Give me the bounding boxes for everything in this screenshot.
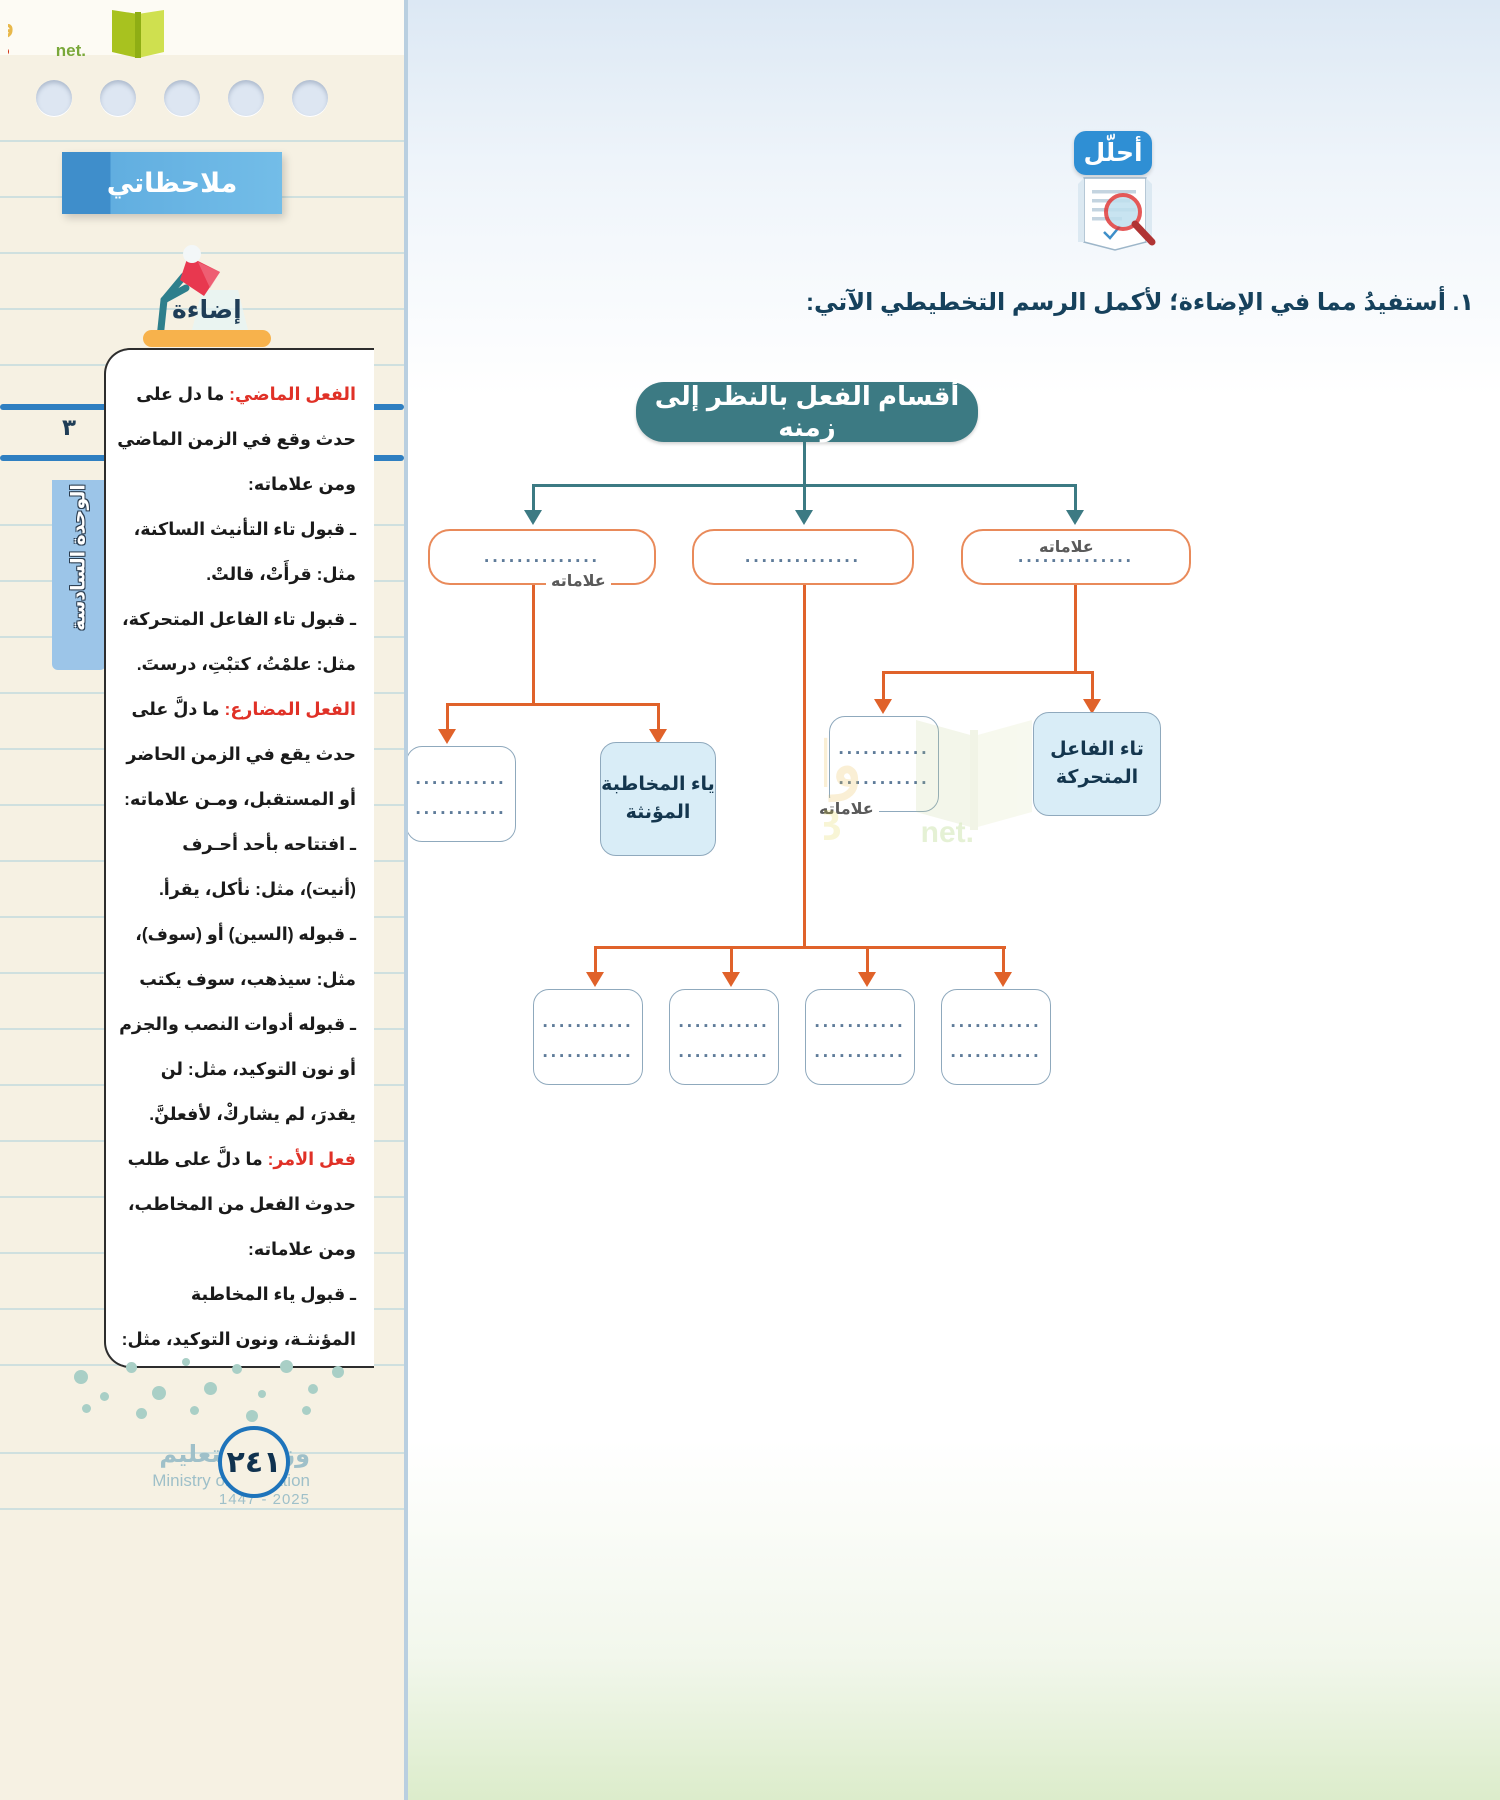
note-line: ـ افتتاحه بأحد أحـرف xyxy=(124,822,356,867)
note-line-text: مثل: قرأَتْ، قالتْ. xyxy=(206,564,356,584)
punch-hole xyxy=(100,80,136,116)
ministry-year: 2025 - 1447 xyxy=(70,1491,310,1510)
arrow-icon xyxy=(874,699,892,714)
connector xyxy=(594,946,597,974)
arrow-icon xyxy=(524,510,542,525)
level2-left-filled-node: ياء المخاطبة المؤنثة xyxy=(600,742,716,856)
level2-center-node-4[interactable]: ...................... xyxy=(533,989,643,1085)
note-line-heading: الفعل الماضي: xyxy=(229,384,356,404)
note-line: ومن علاماته: xyxy=(124,462,356,507)
level2-left-blank-node[interactable]: ...................... xyxy=(406,746,516,842)
note-line-text: (أنيت)، مثل: نأكل، يقرأ. xyxy=(159,879,356,899)
edge-label-left: علاماته xyxy=(546,570,611,592)
level2-right-filled-node: تاء الفاعل المتحركة xyxy=(1033,712,1161,816)
note-line-text: ـ قبول تاء الفاعل المتحركة، xyxy=(122,609,356,629)
note-line-text: ـ قبوله (السين) أو (سوف)، xyxy=(135,924,356,944)
connector xyxy=(1074,484,1077,512)
connector xyxy=(882,671,885,701)
blank-dots: ...................... xyxy=(812,1007,907,1067)
note-line-text: أو المستقبل، ومـن علاماته: xyxy=(124,789,356,809)
note-line-text: حدث وقع في الزمن الماضي xyxy=(117,429,356,449)
note-line-text: حدوث الفعل من المخاطب، xyxy=(128,1194,356,1214)
note-line-text: أو نون التوكيد، مثل: لن xyxy=(161,1059,356,1079)
arrow-icon xyxy=(994,972,1012,987)
note-line: ـ قبوله أدوات النصب والجزم xyxy=(124,1002,356,1047)
note-line: ومن علاماته: xyxy=(124,1227,356,1272)
side-tab-label: الوحدة السادسة xyxy=(68,463,91,653)
connector xyxy=(1074,585,1077,673)
arrow-icon xyxy=(858,972,876,987)
note-line: الفعل الماضي: ما دل على xyxy=(124,372,356,417)
lamp-label: إضاءة xyxy=(172,295,242,325)
rule-line xyxy=(0,140,404,142)
blank-dots: ...................... xyxy=(540,1007,635,1067)
diagram-root-label: أقسام الفعل بالنظر إلى زمنه xyxy=(636,381,978,443)
edge-label-center: علاماته xyxy=(814,798,879,820)
connector xyxy=(803,585,806,949)
connector xyxy=(803,442,806,486)
level2-center-node-1[interactable]: ...................... xyxy=(941,989,1051,1085)
blank-dots: ...................... xyxy=(676,1007,771,1067)
arrow-icon xyxy=(438,729,456,744)
note-line-text: ـ قبول ياء المخاطبة xyxy=(191,1284,356,1304)
arrow-icon xyxy=(795,510,813,525)
punch-hole xyxy=(228,80,264,116)
note-line-text: ما دل على xyxy=(136,384,229,404)
unit-number: ٣ xyxy=(46,414,92,441)
side-tab: الوحدة السادسة xyxy=(52,480,106,670)
diagram-root-node: أقسام الفعل بالنظر إلى زمنه xyxy=(636,382,978,442)
note-line: حدث وقع في الزمن الماضي xyxy=(124,417,356,462)
punch-hole xyxy=(164,80,200,116)
note-line-text: ما دلَّ على طلب xyxy=(128,1149,268,1169)
level2-center-node-2[interactable]: ...................... xyxy=(805,989,915,1085)
connector xyxy=(532,585,535,705)
note-line: أو نون التوكيد، مثل: لن xyxy=(124,1047,356,1092)
note-line: ـ قبول تاء التأنيث الساكنة، xyxy=(124,507,356,552)
note-line-text: ومن علاماته: xyxy=(248,474,356,494)
dot-decoration xyxy=(70,1352,370,1422)
punch-hole xyxy=(36,80,72,116)
note-line-text: ومن علاماته: xyxy=(248,1239,356,1259)
blank-dots: ...................... xyxy=(413,764,508,824)
note-line-text: المؤنثـة، ونون التوكيد، مثل: xyxy=(122,1329,356,1349)
arrow-icon xyxy=(1066,510,1084,525)
note-line-heading: فعل الأمر: xyxy=(268,1149,356,1169)
connector xyxy=(1002,946,1005,974)
textbook-page: ٣ الوحدة السادسة ملاحظاتي إضاءة الفعل ال… xyxy=(0,0,1500,1800)
connector xyxy=(803,484,806,512)
page-number: ٢٤١ xyxy=(218,1426,290,1498)
note-line: يقدرَ، لم يشاركْ، لأفعلنَّ. xyxy=(124,1092,356,1137)
note-line: حدوث الفعل من المخاطب، xyxy=(124,1182,356,1227)
note-line: ـ قبول تاء الفاعل المتحركة، xyxy=(124,597,356,642)
connector xyxy=(594,946,1006,949)
note-line: مثل: قرأَتْ، قالتْ. xyxy=(124,552,356,597)
note-line-heading: الفعل المضارع: xyxy=(225,699,357,719)
note-line: ـ قبوله (السين) أو (سوف)، xyxy=(124,912,356,957)
note-line: مثل: سيذهب، سوف يكتب xyxy=(124,957,356,1002)
note-line-text: مثل: علمْتُ، كتبْتِ، درستَ. xyxy=(137,654,356,674)
arrow-icon xyxy=(722,972,740,987)
illumination-note-card: الفعل الماضي: ما دل على حدث وقع في الزمن… xyxy=(104,348,374,1368)
level2-center-node-3[interactable]: ...................... xyxy=(669,989,779,1085)
note-line-text: حدث يقع في الزمن الحاضر xyxy=(126,744,356,764)
connector xyxy=(657,703,660,731)
content-area: أحلّل ١. أستفيدُ مما في الإضاءة؛ لأكمل ا… xyxy=(404,0,1500,1800)
note-line: حدث يقع في الزمن الحاضر xyxy=(124,732,356,777)
blank-dots: ...................... xyxy=(836,734,931,794)
note-line: أو المستقبل، ومـن علاماته: xyxy=(124,777,356,822)
notes-banner-label: ملاحظاتي xyxy=(107,168,238,199)
note-line: (أنيت)، مثل: نأكل، يقرأ. xyxy=(124,867,356,912)
note-line-text: ـ قبول تاء التأنيث الساكنة، xyxy=(134,519,356,539)
note-line: ـ قبول ياء المخاطبة xyxy=(124,1272,356,1317)
level1-node-center[interactable]: .............. xyxy=(692,529,914,585)
connector xyxy=(446,703,449,731)
connector xyxy=(866,946,869,974)
note-line: فعل الأمر: ما دلَّ على طلب xyxy=(124,1137,356,1182)
note-line-text: ما دلَّ على xyxy=(132,699,225,719)
level1-node-left[interactable]: .............. xyxy=(428,529,656,585)
blank-dots: ...................... xyxy=(948,1007,1043,1067)
level2-right-filled-label: تاء الفاعل المتحركة xyxy=(1034,736,1160,791)
punch-hole xyxy=(292,80,328,116)
tree-diagram: أقسام الفعل بالنظر إلى زمنه ............… xyxy=(404,0,1500,1800)
connector xyxy=(532,484,535,512)
connector xyxy=(446,703,660,706)
note-line-text: يقدرَ، لم يشاركْ، لأفعلنَّ. xyxy=(149,1104,356,1124)
notes-banner: ملاحظاتي xyxy=(62,152,282,214)
lamp-base xyxy=(143,330,271,347)
notes-panel: ٣ الوحدة السادسة ملاحظاتي إضاءة الفعل ال… xyxy=(0,0,404,1800)
edge-label-right: علاماته xyxy=(1034,536,1099,558)
blank-dots: .............. xyxy=(707,542,899,572)
note-line-text: ـ افتتاحه بأحد أحـرف xyxy=(182,834,356,854)
blank-dots: .............. xyxy=(443,542,640,572)
connector xyxy=(882,671,1094,674)
connector xyxy=(1091,671,1094,701)
note-line-text: ـ قبوله أدوات النصب والجزم xyxy=(119,1014,356,1034)
content-divider xyxy=(404,0,408,1800)
note-line-text: مثل: سيذهب، سوف يكتب xyxy=(139,969,356,989)
arrow-icon xyxy=(586,972,604,987)
note-line: مثل: علمْتُ، كتبْتِ، درستَ. xyxy=(124,642,356,687)
level2-left-filled-label: ياء المخاطبة المؤنثة xyxy=(601,771,715,826)
paper-top-edge xyxy=(0,0,404,55)
connector xyxy=(730,946,733,974)
note-line: الفعل المضارع: ما دلَّ على xyxy=(124,687,356,732)
